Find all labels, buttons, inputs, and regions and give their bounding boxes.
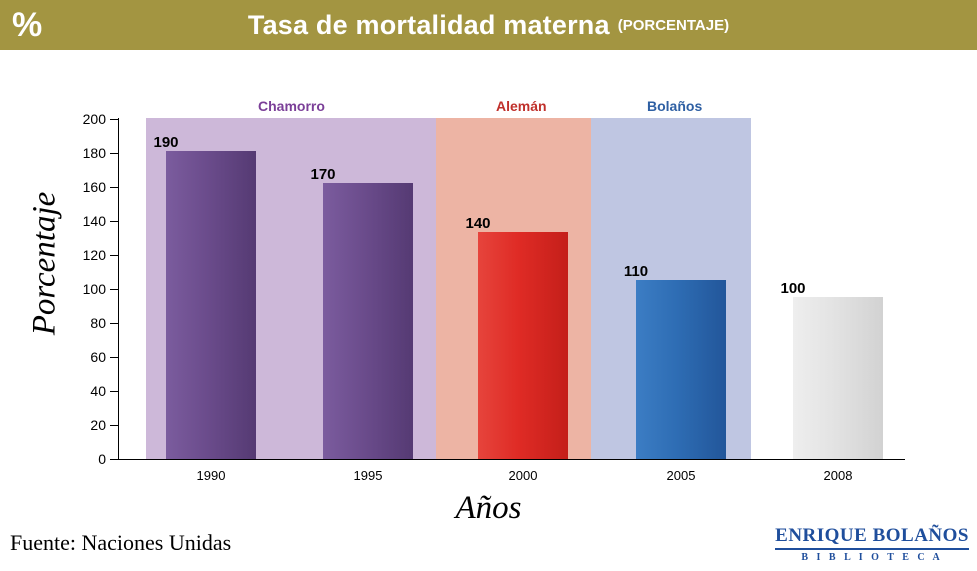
bar-1990 bbox=[166, 151, 256, 459]
y-tick bbox=[110, 119, 118, 120]
y-tick bbox=[110, 187, 118, 188]
bar-value-1995: 170 bbox=[278, 166, 368, 183]
x-tick-label-2000: 2000 bbox=[478, 468, 568, 483]
y-tick-label: 0 bbox=[70, 451, 106, 467]
regime-label-aleman: Alemán bbox=[496, 98, 547, 114]
percent-symbol: % bbox=[12, 8, 42, 42]
bar-2000 bbox=[478, 232, 568, 459]
y-tick-label: 60 bbox=[70, 349, 106, 365]
y-tick bbox=[110, 323, 118, 324]
regime-label-bolanos: Bolaños bbox=[647, 98, 702, 114]
x-tick-label-2005: 2005 bbox=[636, 468, 726, 483]
y-tick bbox=[110, 289, 118, 290]
logo-divider bbox=[775, 548, 969, 550]
y-tick bbox=[110, 459, 118, 460]
logo-subtitle: B I B L I O T E C A bbox=[775, 552, 969, 563]
bar-1995 bbox=[323, 183, 413, 459]
x-tick-label-1995: 1995 bbox=[323, 468, 413, 483]
bar-value-2000: 140 bbox=[433, 215, 523, 232]
header-bar: % bbox=[0, 0, 977, 50]
y-axis-line bbox=[118, 118, 119, 460]
bar-2005 bbox=[636, 280, 726, 459]
bar-value-1990: 190 bbox=[121, 134, 211, 151]
logo-name: ENRIQUE BOLAÑOS bbox=[775, 525, 969, 547]
regime-label-chamorro: Chamorro bbox=[258, 98, 325, 114]
y-tick-label: 120 bbox=[70, 247, 106, 263]
y-tick-label: 180 bbox=[70, 145, 106, 161]
x-tick-label-2008: 2008 bbox=[793, 468, 883, 483]
bar-value-2005: 110 bbox=[591, 263, 681, 280]
logo: ENRIQUE BOLAÑOS B I B L I O T E C A bbox=[775, 525, 969, 563]
bar-value-2008: 100 bbox=[748, 280, 838, 297]
y-tick bbox=[110, 255, 118, 256]
y-tick bbox=[110, 391, 118, 392]
chart-area: Chamorro Alemán Bolaños 0 20 40 60 80 10… bbox=[0, 50, 977, 520]
y-tick-labels: 0 20 40 60 80 100 120 140 160 180 200 bbox=[62, 50, 106, 520]
y-tick-label: 160 bbox=[70, 179, 106, 195]
y-tick-label: 40 bbox=[70, 383, 106, 399]
y-tick bbox=[110, 221, 118, 222]
y-tick-label: 80 bbox=[70, 315, 106, 331]
y-tick bbox=[110, 425, 118, 426]
x-axis-title: Años bbox=[0, 490, 977, 527]
source-note: Fuente: Naciones Unidas bbox=[10, 530, 231, 556]
bar-2008 bbox=[793, 297, 883, 459]
x-tick-label-1990: 1990 bbox=[166, 468, 256, 483]
y-axis-title: Porcentaje bbox=[27, 149, 64, 379]
y-tick-label: 100 bbox=[70, 281, 106, 297]
y-tick-label: 140 bbox=[70, 213, 106, 229]
y-tick-label: 20 bbox=[70, 417, 106, 433]
x-axis-line bbox=[118, 459, 905, 460]
y-tick bbox=[110, 357, 118, 358]
y-tick bbox=[110, 153, 118, 154]
y-tick-label: 200 bbox=[70, 111, 106, 127]
